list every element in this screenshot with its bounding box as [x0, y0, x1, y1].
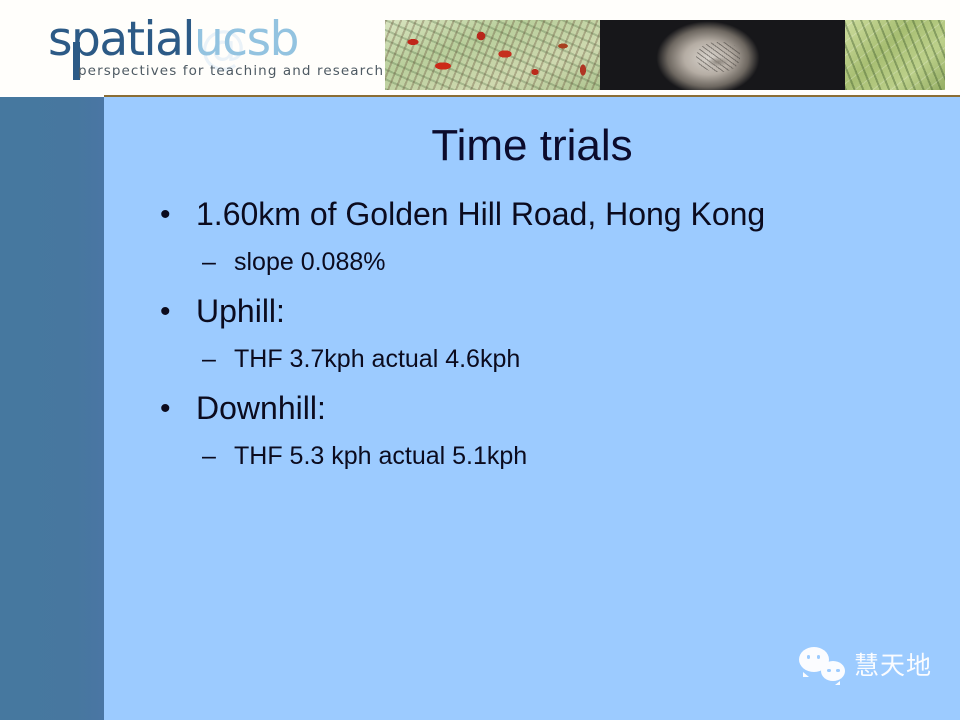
slide-header: @ spatialucsb perspectives for teaching …: [0, 0, 960, 95]
brain-mri-spiderweb-panel: [600, 20, 845, 90]
sub-list-item-label: THF 3.7kph actual 4.6kph: [234, 339, 520, 379]
wechat-dot: [836, 669, 840, 673]
logo-wordmark: spatialucsb: [48, 14, 298, 66]
page-title: Time trials: [104, 121, 960, 171]
bullet-list: • 1.60km of Golden Hill Road, Hong Kong …: [104, 191, 960, 482]
left-sidebar: [0, 97, 104, 720]
dash-marker-icon: –: [202, 339, 226, 379]
sub-list-item: – slope 0.088%: [104, 242, 960, 282]
bullet-marker-icon: •: [160, 191, 188, 238]
list-item: • Downhill:: [104, 385, 960, 432]
slide-canvas: @ spatialucsb perspectives for teaching …: [0, 0, 960, 720]
wechat-icon: [799, 647, 845, 681]
watermark-label: 慧天地: [854, 646, 932, 682]
wechat-bubble-small: [821, 661, 845, 681]
header-image-strip: [385, 20, 945, 90]
list-item: • Uphill:: [104, 288, 960, 335]
slide-content: Time trials • 1.60km of Golden Hill Road…: [104, 97, 960, 720]
wechat-watermark: 慧天地: [799, 646, 932, 682]
spatial-ucsb-logo: @ spatialucsb perspectives for teaching …: [48, 14, 358, 84]
dash-marker-icon: –: [202, 242, 226, 282]
sub-list-item-label: slope 0.088%: [234, 242, 386, 282]
dash-marker-icon: –: [202, 436, 226, 476]
satellite-imagery-panel: [385, 20, 600, 90]
logo-word-spatial: spatial: [48, 12, 194, 67]
sub-list-item: – THF 5.3 kph actual 5.1kph: [104, 436, 960, 476]
sub-list-item: – THF 3.7kph actual 4.6kph: [104, 339, 960, 379]
list-item-label: 1.60km of Golden Hill Road, Hong Kong: [196, 191, 765, 238]
list-item: • 1.60km of Golden Hill Road, Hong Kong: [104, 191, 960, 238]
bullet-marker-icon: •: [160, 385, 188, 432]
terrain-imagery-panel: [845, 20, 945, 90]
list-item-label: Uphill:: [196, 288, 285, 335]
list-item-label: Downhill:: [196, 385, 326, 432]
wechat-dot: [827, 669, 831, 673]
logo-word-ucsb: ucsb: [194, 12, 298, 67]
bullet-marker-icon: •: [160, 288, 188, 335]
logo-tagline: perspectives for teaching and research: [78, 63, 384, 79]
sub-list-item-label: THF 5.3 kph actual 5.1kph: [234, 436, 527, 476]
